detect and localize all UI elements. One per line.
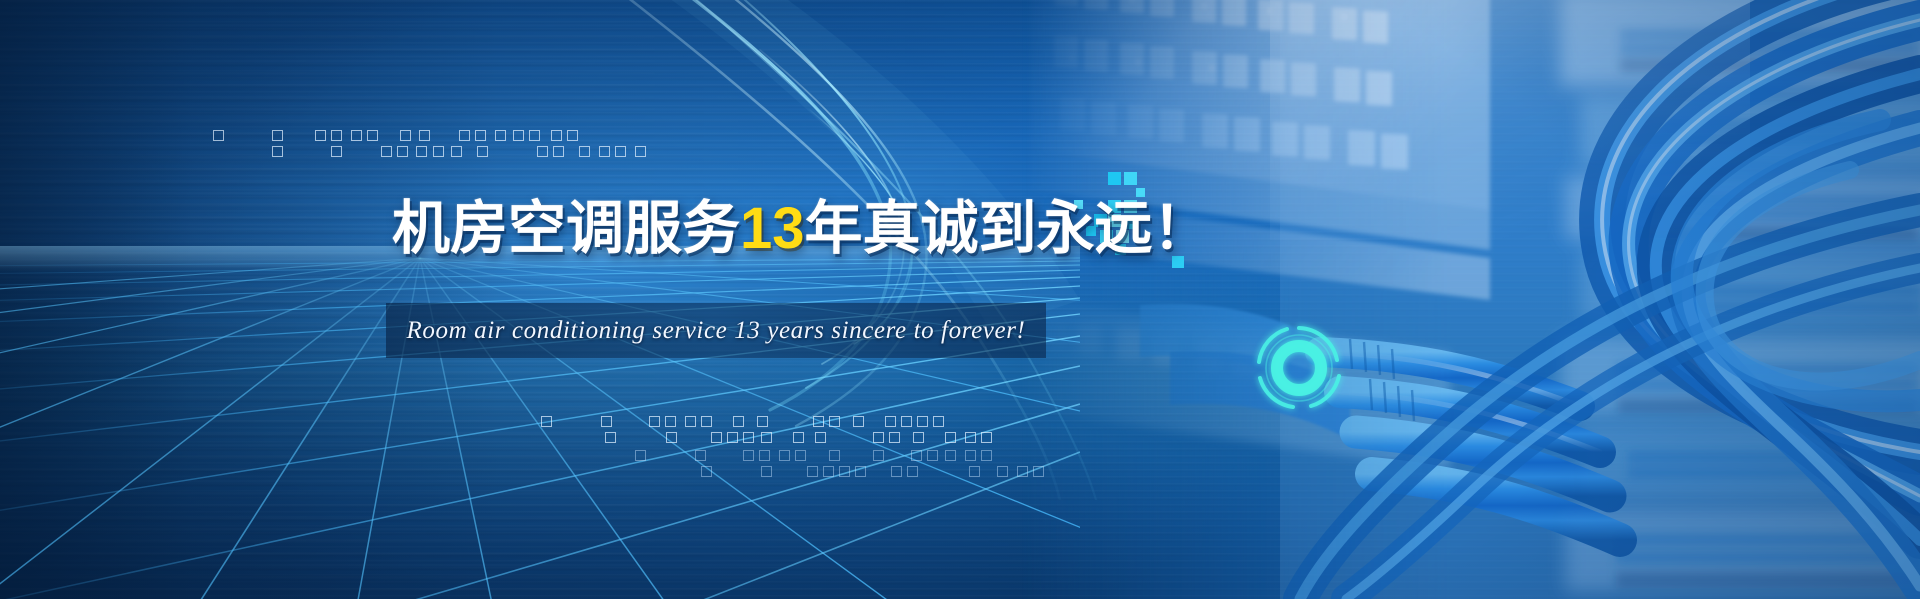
- promo-banner: 机房空调服务13年真诚到永远！ Room air conditioning se…: [0, 0, 1920, 599]
- vignette-overlay: [0, 0, 1920, 599]
